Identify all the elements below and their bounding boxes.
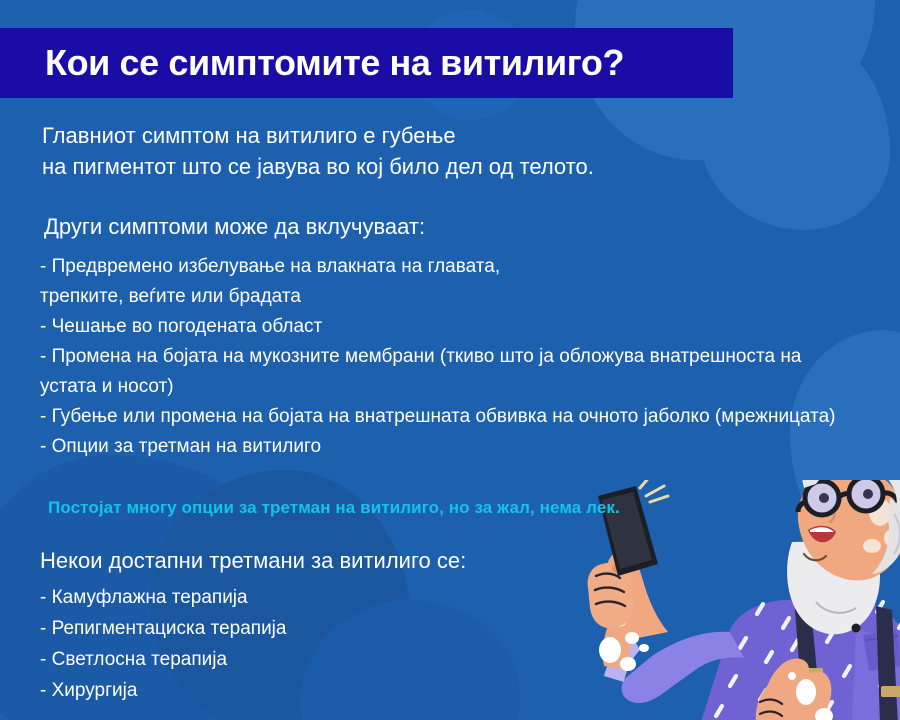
other-symptoms-heading: Други симптоми може да вклучуваат:: [0, 182, 900, 242]
intro-paragraph: Главниот симптом на витилиго е губење на…: [0, 98, 900, 182]
collar-button: [852, 624, 861, 633]
highlight-note: Постојат многу опции за третман на витил…: [0, 462, 900, 518]
list-item: - Опции за третман на витилиго: [40, 432, 840, 462]
list-item: - Чешање во погодената област: [40, 312, 840, 342]
list-item: - Промена на бојата на мукозните мембран…: [40, 342, 840, 402]
page-title: Кои се симптомите на витилиго?: [0, 42, 624, 84]
list-item: - Губење или промена на бојата на внатре…: [40, 402, 840, 432]
poster-canvas: Кои се симптомите на витилиго? Главниот …: [0, 0, 900, 720]
title-banner: Кои се симптомите на витилиго?: [0, 28, 733, 98]
symptom-list: - Предвремено избелување на влакната на …: [0, 242, 840, 462]
suspender-buckle-right: [881, 686, 900, 697]
list-item: - Предвремено избелување на влакната на …: [40, 252, 840, 312]
